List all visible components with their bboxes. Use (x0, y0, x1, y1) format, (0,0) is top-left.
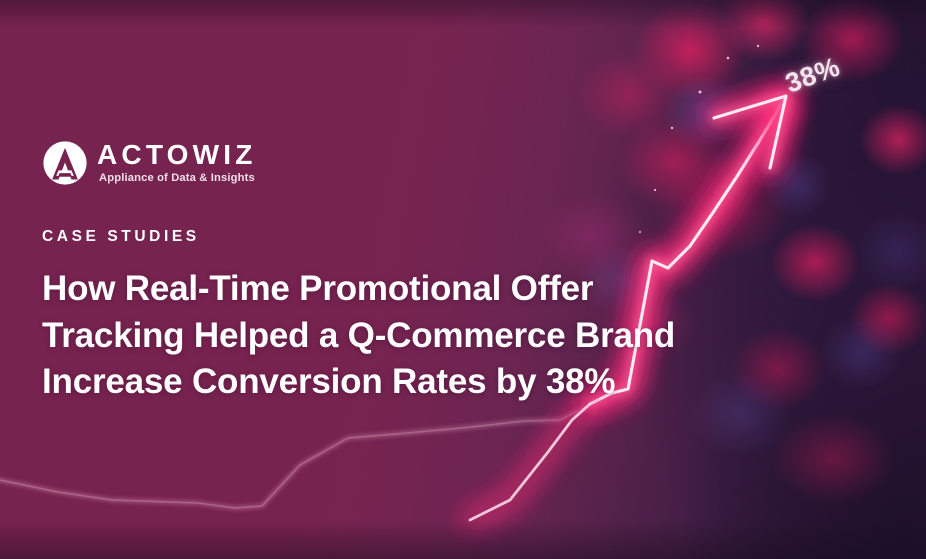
headline-line-3: Increase Conversion Rates by 38% (42, 359, 782, 406)
brand-logo[interactable]: ACTOWIZ Appliance of Data & Insights (42, 140, 782, 186)
actowiz-a-monogram-icon (42, 140, 88, 186)
category-label: CASE STUDIES (42, 228, 782, 246)
logo-tagline: Appliance of Data & Insights (99, 172, 257, 185)
headline-line-1: How Real-Time Promotional Offer (42, 266, 782, 313)
headline-line-2: Tracking Helped a Q-Commerce Brand (42, 313, 782, 360)
banner-content: ACTOWIZ Appliance of Data & Insights CAS… (42, 140, 782, 406)
logo-wordmark: ACTOWIZ (97, 141, 257, 170)
case-study-banner: 38% ACTOWIZ Appliance of Data & Insights… (0, 0, 926, 559)
page-title: How Real-Time Promotional Offer Tracking… (42, 266, 782, 406)
